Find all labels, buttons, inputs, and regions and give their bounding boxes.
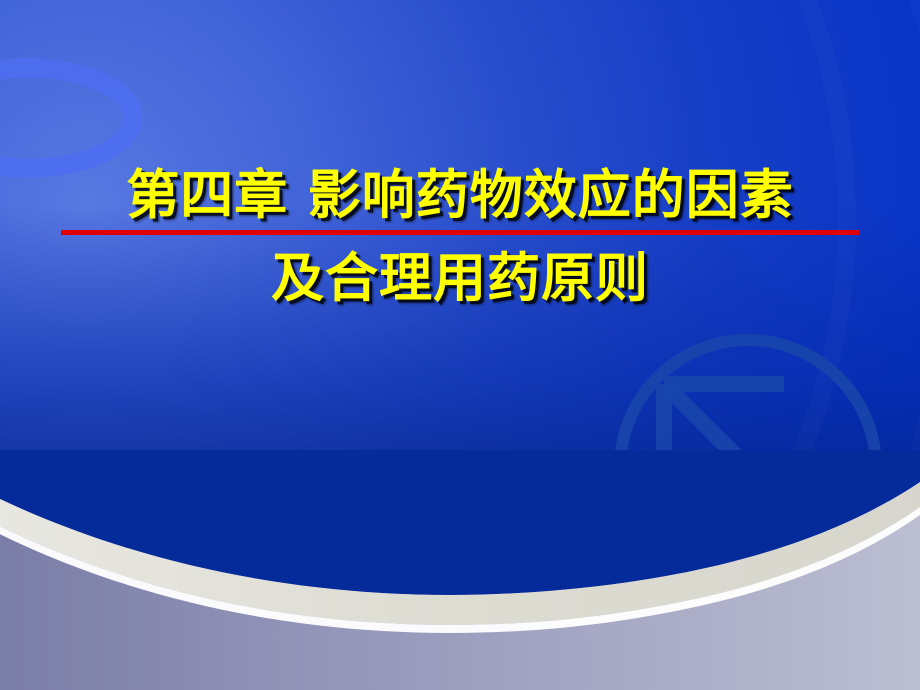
curved-footer-band bbox=[0, 450, 920, 690]
slide-title-line-2: 及合理用药原则 bbox=[0, 251, 920, 307]
slide-title-line-1: 第四章 影响药物效应的因素 bbox=[0, 168, 920, 224]
slide-canvas: 第四章 影响药物效应的因素 及合理用药原则 bbox=[0, 0, 920, 690]
slide-title-block: 第四章 影响药物效应的因素 及合理用药原则 bbox=[0, 168, 920, 307]
title-underline-rule bbox=[61, 230, 859, 235]
